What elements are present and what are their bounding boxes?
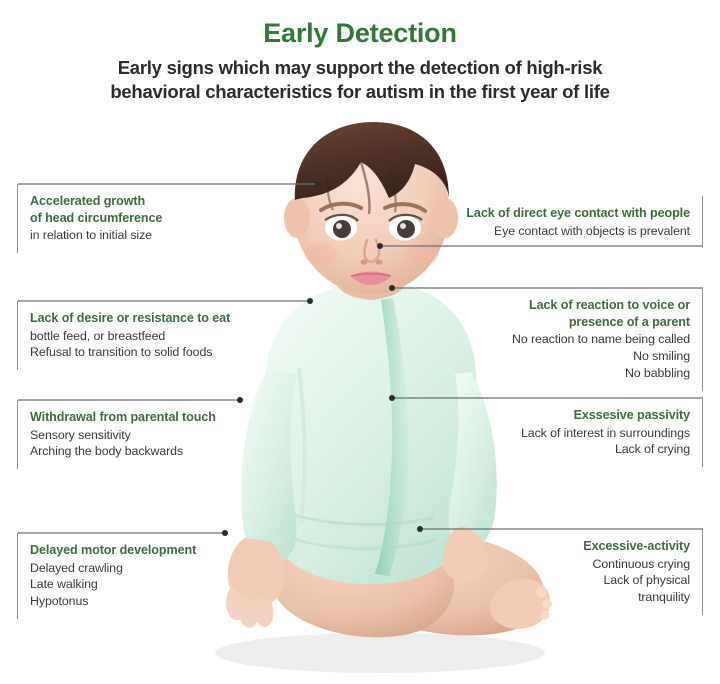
subtitle-line-2: behavioral characteristics for autism in… [0,80,720,104]
callout-body-line: bottle feed, or breastfeed [30,328,257,345]
callout-body-line: Lack of interest in surroundings [445,425,690,442]
heading-line: Lack of direct eye contact with people [445,205,690,222]
callout-motor-development-heading: Delayed motor development [30,542,257,559]
heading-line: Accelerated growth [30,193,257,210]
callout-body-line: No reaction to name being called [445,331,690,348]
callout-feeding[interactable]: Lack of desire or resistance to eat bott… [17,301,267,370]
callout-excessive-activity-heading: Excessive-activity [445,538,690,555]
callout-body-line: in relation to initial size [30,227,257,244]
heading-line: Withdrawal from parental touch [30,409,257,426]
callout-eye-contact[interactable]: Lack of direct eye contact with people E… [435,196,703,248]
callout-body-line: Continuous crying [445,556,690,573]
callout-body-line: No babbling [445,365,690,382]
callout-passivity[interactable]: Exssesive passivity Lack of interest in … [435,398,703,467]
callout-body-line: tranquility [445,589,690,606]
callout-excessive-activity[interactable]: Excessive-activity Continuous crying Lac… [435,529,703,615]
callout-body-line: Sensory sensitivity [30,427,257,444]
heading-line: Lack of reaction to voice or [445,297,690,314]
callout-passivity-heading: Exssesive passivity [445,407,690,424]
callout-voice-reaction[interactable]: Lack of reaction to voice or presence of… [435,288,703,391]
heading-line: of head circumference [30,210,257,227]
callout-head-circumference[interactable]: Accelerated growth of head circumference… [17,184,267,253]
heading-line: Delayed motor development [30,542,257,559]
callout-body-line: Refusal to transition to solid foods [30,344,257,361]
callout-body-line: Eye contact with objects is prevalent [445,223,690,240]
page-title: Early Detection [0,18,720,49]
heading-line: Lack of desire or resistance to eat [30,310,257,327]
callout-body-line: No smiling [445,348,690,365]
subtitle-line-1: Early signs which may support the detect… [0,56,720,80]
callout-body-line: Lack of crying [445,441,690,458]
callout-body-line: Hypotonus [30,593,257,610]
page-subtitle: Early signs which may support the detect… [0,56,720,105]
header: Early Detection Early signs which may su… [0,0,720,105]
callout-voice-reaction-heading: Lack of reaction to voice or presence of… [445,297,690,330]
callout-body-line: Arching the body backwards [30,443,257,460]
callout-body-line: Lack of physical [445,572,690,589]
heading-line: presence of a parent [445,314,690,331]
callout-parental-touch-heading: Withdrawal from parental touch [30,409,257,426]
callout-eye-contact-heading: Lack of direct eye contact with people [445,205,690,222]
infographic-root: Early Detection Early signs which may su… [0,0,720,684]
callout-head-circumference-heading: Accelerated growth of head circumference [30,193,257,226]
heading-line: Excessive-activity [445,538,690,555]
heading-line: Exssesive passivity [445,407,690,424]
callout-body-line: Delayed crawling [30,560,257,577]
callout-body-line: Late walking [30,576,257,593]
callout-feeding-heading: Lack of desire or resistance to eat [30,310,257,327]
callout-parental-touch[interactable]: Withdrawal from parental touch Sensory s… [17,400,267,469]
callout-motor-development[interactable]: Delayed motor development Delayed crawli… [17,533,267,619]
